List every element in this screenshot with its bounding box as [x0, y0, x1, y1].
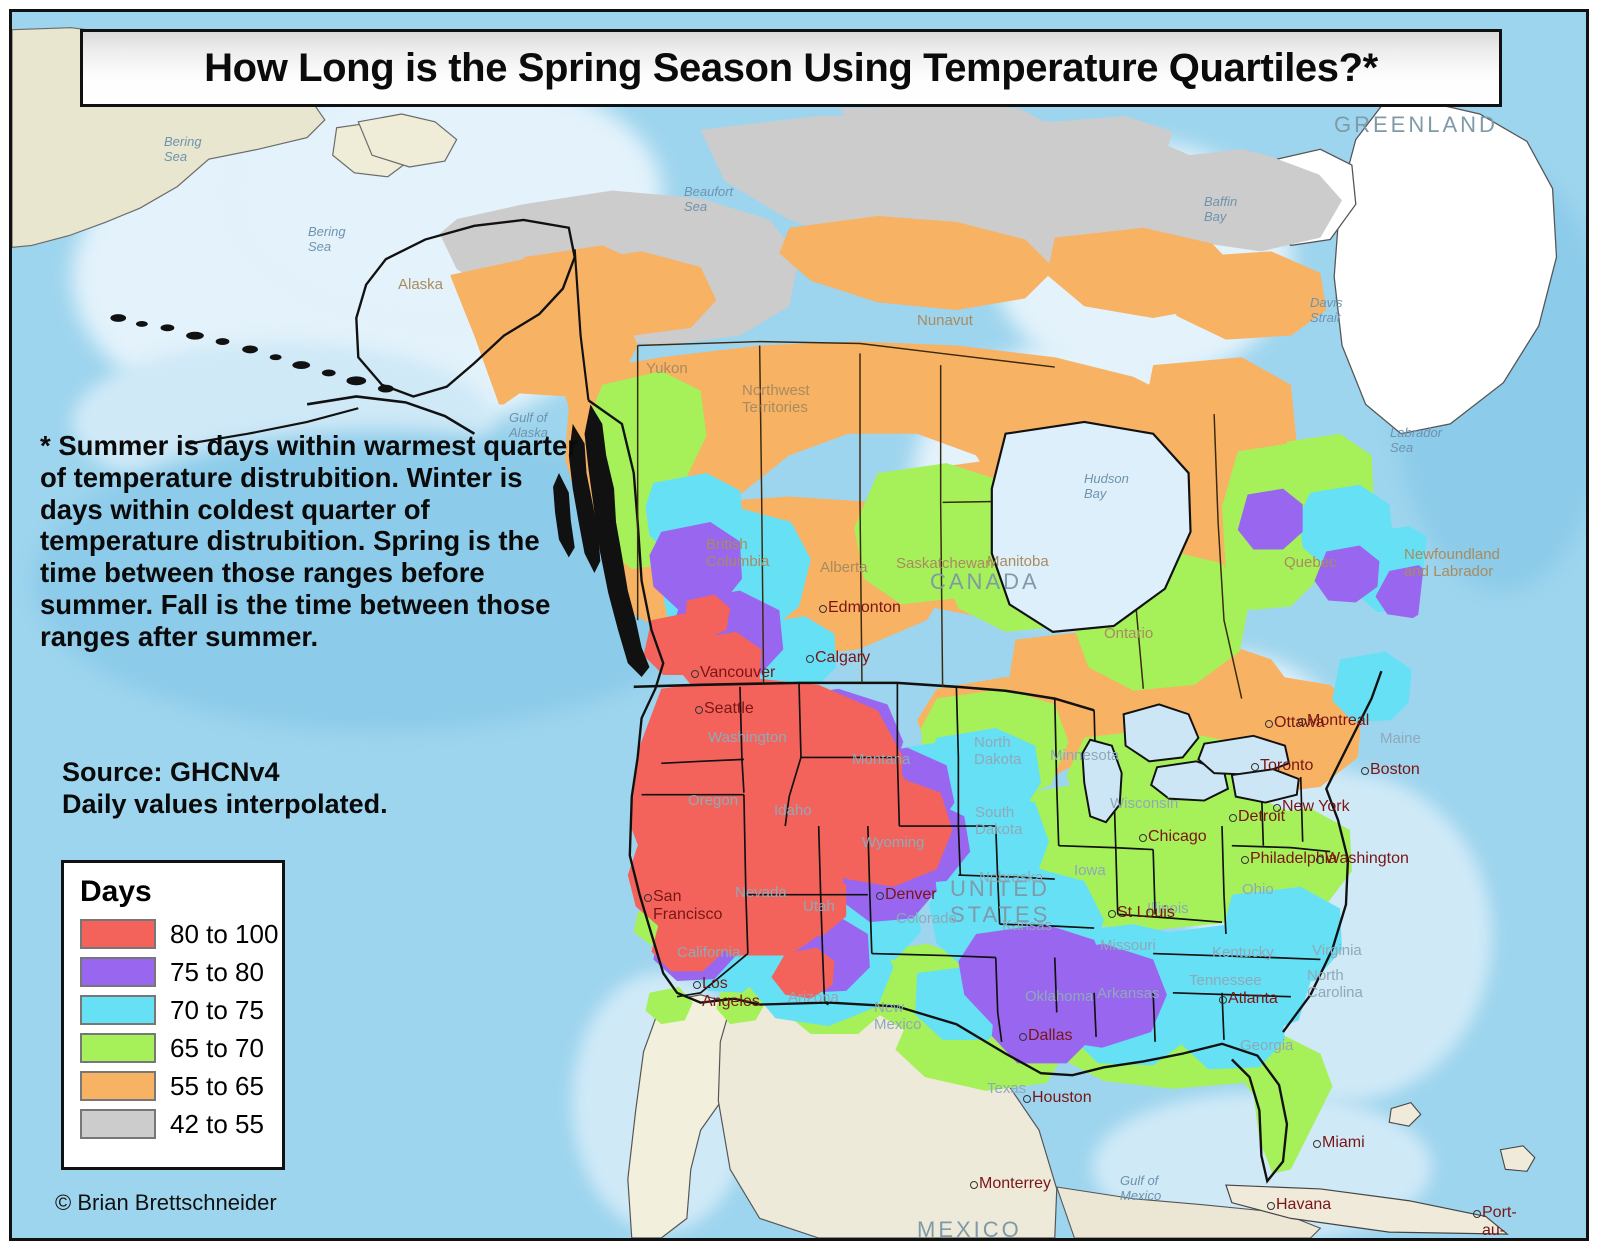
legend-label: 65 to 70: [170, 1033, 264, 1064]
city-marker-icon: [1219, 996, 1227, 1004]
legend: Days 80 to 10075 to 8070 to 7565 to 7055…: [61, 860, 285, 1170]
legend-item: 42 to 55: [80, 1105, 282, 1143]
city-marker-icon: [970, 1181, 978, 1189]
city-marker-icon: [1298, 718, 1306, 726]
city-marker-icon: [1241, 856, 1249, 864]
legend-label: 70 to 75: [170, 995, 264, 1026]
city-marker-icon: [693, 981, 701, 989]
city-marker-icon: [1273, 804, 1281, 812]
city-marker-icon: [1361, 767, 1369, 775]
map-frame: Bering SeaBering SeaGulf of AlaskaDavis …: [9, 9, 1589, 1241]
title-box: How Long is the Spring Season Using Temp…: [80, 29, 1502, 107]
city-marker-icon: [644, 894, 652, 902]
city-marker-icon: [695, 706, 703, 714]
legend-title: Days: [80, 875, 282, 909]
legend-item: 75 to 80: [80, 953, 282, 991]
legend-item: 65 to 70: [80, 1029, 282, 1067]
city-marker-icon: [806, 655, 814, 663]
city-marker-icon: [1139, 834, 1147, 842]
city-marker-icon: [1229, 814, 1237, 822]
city-marker-icon: [1267, 1202, 1275, 1210]
city-marker-icon: [1251, 763, 1259, 771]
legend-label: 75 to 80: [170, 957, 264, 988]
city-marker-icon: [1265, 720, 1273, 728]
city-marker-icon: [876, 892, 884, 900]
legend-swatch: [80, 1109, 156, 1139]
legend-item: 80 to 100: [80, 915, 282, 953]
city-marker-icon: [1108, 910, 1116, 918]
city-marker-icon: [1313, 1140, 1321, 1148]
aleutian-islands: [110, 314, 393, 392]
legend-swatch: [80, 957, 156, 987]
city-marker-icon: [1316, 856, 1324, 864]
page-title: How Long is the Spring Season Using Temp…: [204, 46, 1378, 91]
city-marker-icon: [1019, 1033, 1027, 1041]
figure-container: Bering SeaBering SeaGulf of AlaskaDavis …: [0, 0, 1600, 1250]
source-block: Source: GHCNv4 Daily values interpolated…: [62, 757, 582, 821]
legend-label: 55 to 65: [170, 1071, 264, 1102]
legend-rows: 80 to 10075 to 8070 to 7565 to 7055 to 6…: [64, 915, 282, 1143]
legend-swatch: [80, 995, 156, 1025]
legend-item: 70 to 75: [80, 991, 282, 1029]
source-line-2: Daily values interpolated.: [62, 789, 582, 821]
city-marker-icon: [819, 605, 827, 613]
credit-text: © Brian Brettschneider: [55, 1190, 277, 1216]
legend-swatch: [80, 1033, 156, 1063]
legend-label: 80 to 100: [170, 919, 278, 950]
methodology-note: * Summer is days within warmest quarter …: [40, 430, 580, 652]
legend-item: 55 to 65: [80, 1067, 282, 1105]
legend-swatch: [80, 919, 156, 949]
legend-label: 42 to 55: [170, 1109, 264, 1140]
legend-swatch: [80, 1071, 156, 1101]
city-marker-icon: [1473, 1210, 1481, 1218]
city-marker-icon: [1023, 1095, 1031, 1103]
source-line-1: Source: GHCNv4: [62, 757, 582, 789]
city-marker-icon: [691, 670, 699, 678]
